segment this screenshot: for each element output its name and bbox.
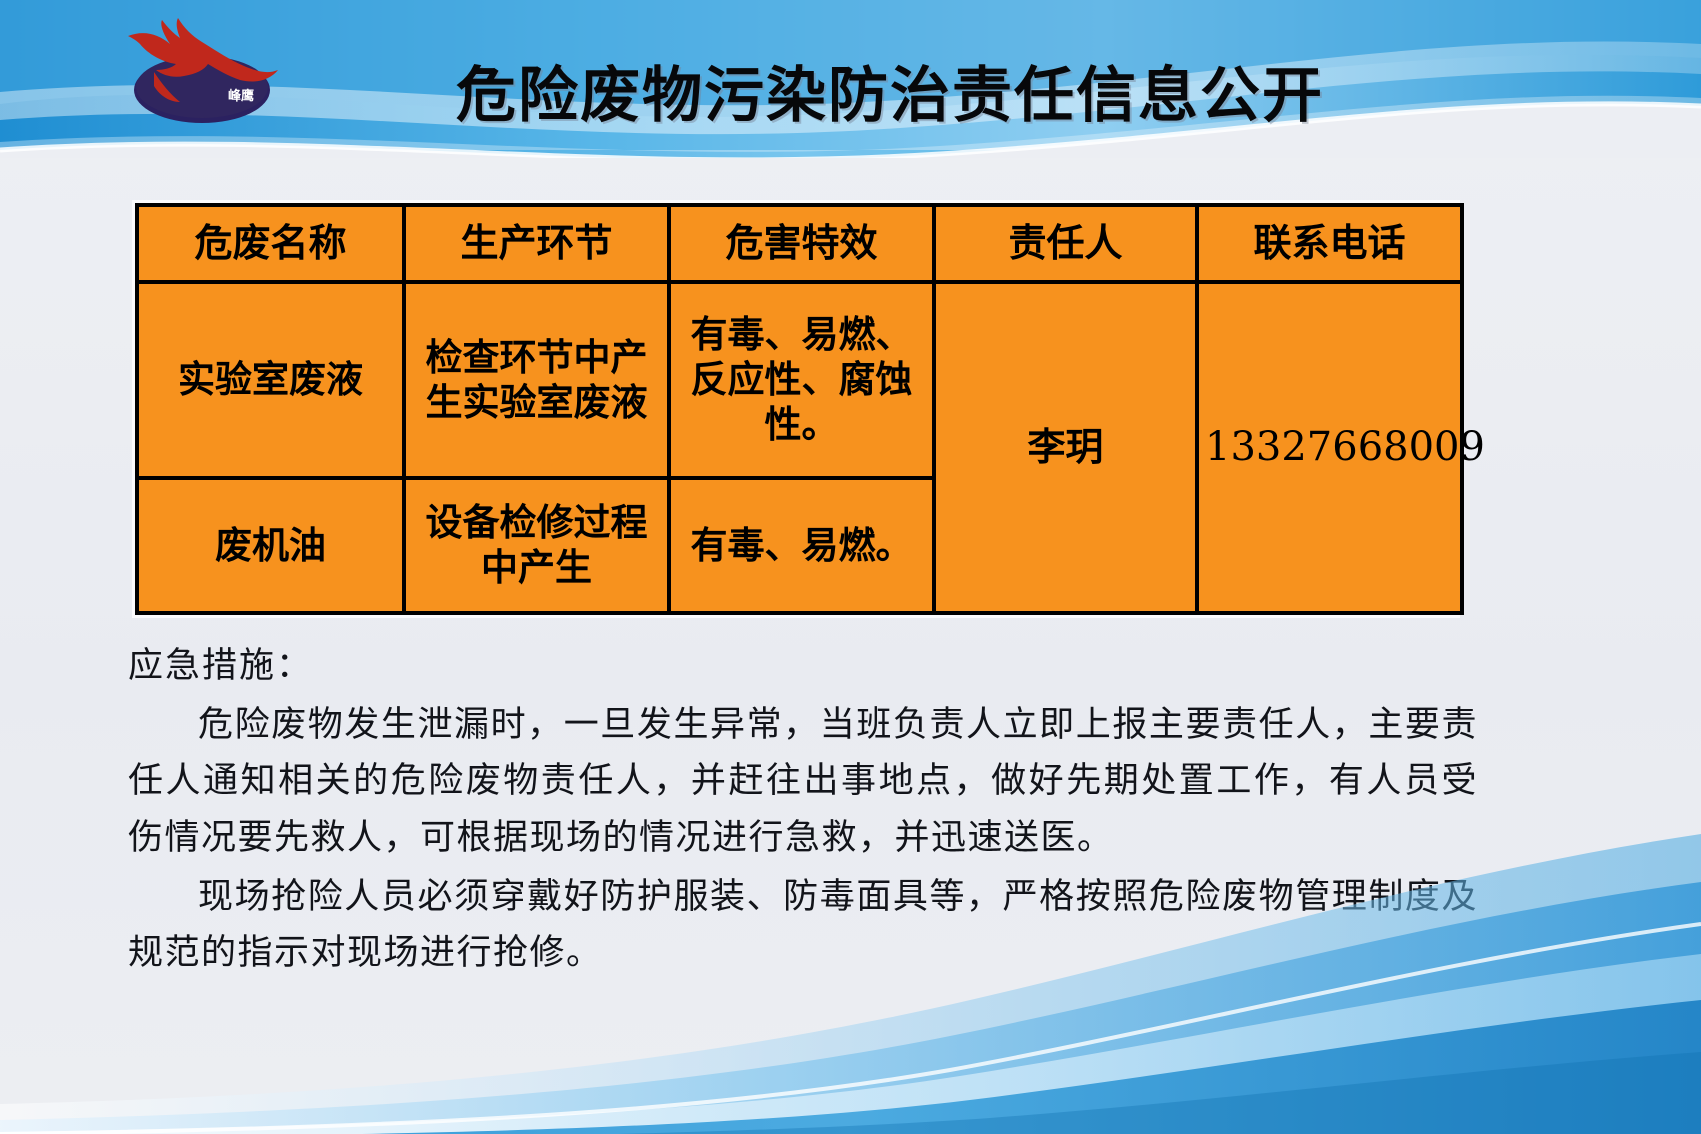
eagle-logo-graphic: 峰鹰	[110, 14, 290, 134]
emergency-measures-heading: 应急措施：	[128, 640, 1478, 693]
table-header-row: 危废名称 生产环节 危害特效 责任人 联系电话	[137, 205, 1462, 282]
cell-waste-name-2: 废机油	[137, 478, 404, 613]
cell-waste-name-1: 实验室废液	[137, 282, 404, 477]
cell-process-1: 检查环节中产生实验室废液	[404, 282, 669, 477]
cell-hazard-2: 有毒、易燃。	[669, 478, 934, 613]
svg-text:峰鹰: 峰鹰	[228, 88, 254, 104]
eagle-logo: 峰鹰	[110, 14, 290, 134]
cell-process-2: 设备检修过程中产生	[404, 478, 669, 613]
cell-hazard-1: 有毒、易燃、反应性、腐蚀性。	[669, 282, 934, 477]
hazardous-waste-table-container: 危废名称 生产环节 危害特效 责任人 联系电话 实验室废液 检查环节中产生实验室…	[132, 200, 1460, 618]
emergency-measures-paragraph-2: 现场抢险人员必须穿戴好防护服装、防毒面具等，严格按照危险废物管理制度及规范的指示…	[128, 869, 1478, 982]
column-header-hazard: 危害特效	[669, 205, 934, 282]
column-header-process: 生产环节	[404, 205, 669, 282]
cell-person: 李玥	[934, 282, 1197, 613]
header-band: 峰鹰 危险废物污染防治责任信息公开	[0, 0, 1701, 158]
column-header-phone: 联系电话	[1197, 205, 1462, 282]
emergency-measures-paragraph-1: 危险废物发生泄漏时，一旦发生异常，当班负责人立即上报主要责任人，主要责任人通知相…	[128, 697, 1478, 867]
slide-canvas: 峰鹰 危险废物污染防治责任信息公开 危废名称 生产环节 危害特效 责任人 联系电…	[0, 0, 1701, 1134]
page-title: 危险废物污染防治责任信息公开	[300, 44, 1480, 136]
table-row: 实验室废液 检查环节中产生实验室废液 有毒、易燃、反应性、腐蚀性。 李玥 133…	[137, 282, 1462, 477]
column-header-waste-name: 危废名称	[137, 205, 404, 282]
hazardous-waste-table: 危废名称 生产环节 危害特效 责任人 联系电话 实验室废液 检查环节中产生实验室…	[135, 203, 1464, 615]
emergency-measures-block: 应急措施： 危险废物发生泄漏时，一旦发生异常，当班负责人立即上报主要责任人，主要…	[128, 640, 1478, 982]
cell-phone: 13327668009	[1197, 282, 1462, 613]
column-header-person: 责任人	[934, 205, 1197, 282]
